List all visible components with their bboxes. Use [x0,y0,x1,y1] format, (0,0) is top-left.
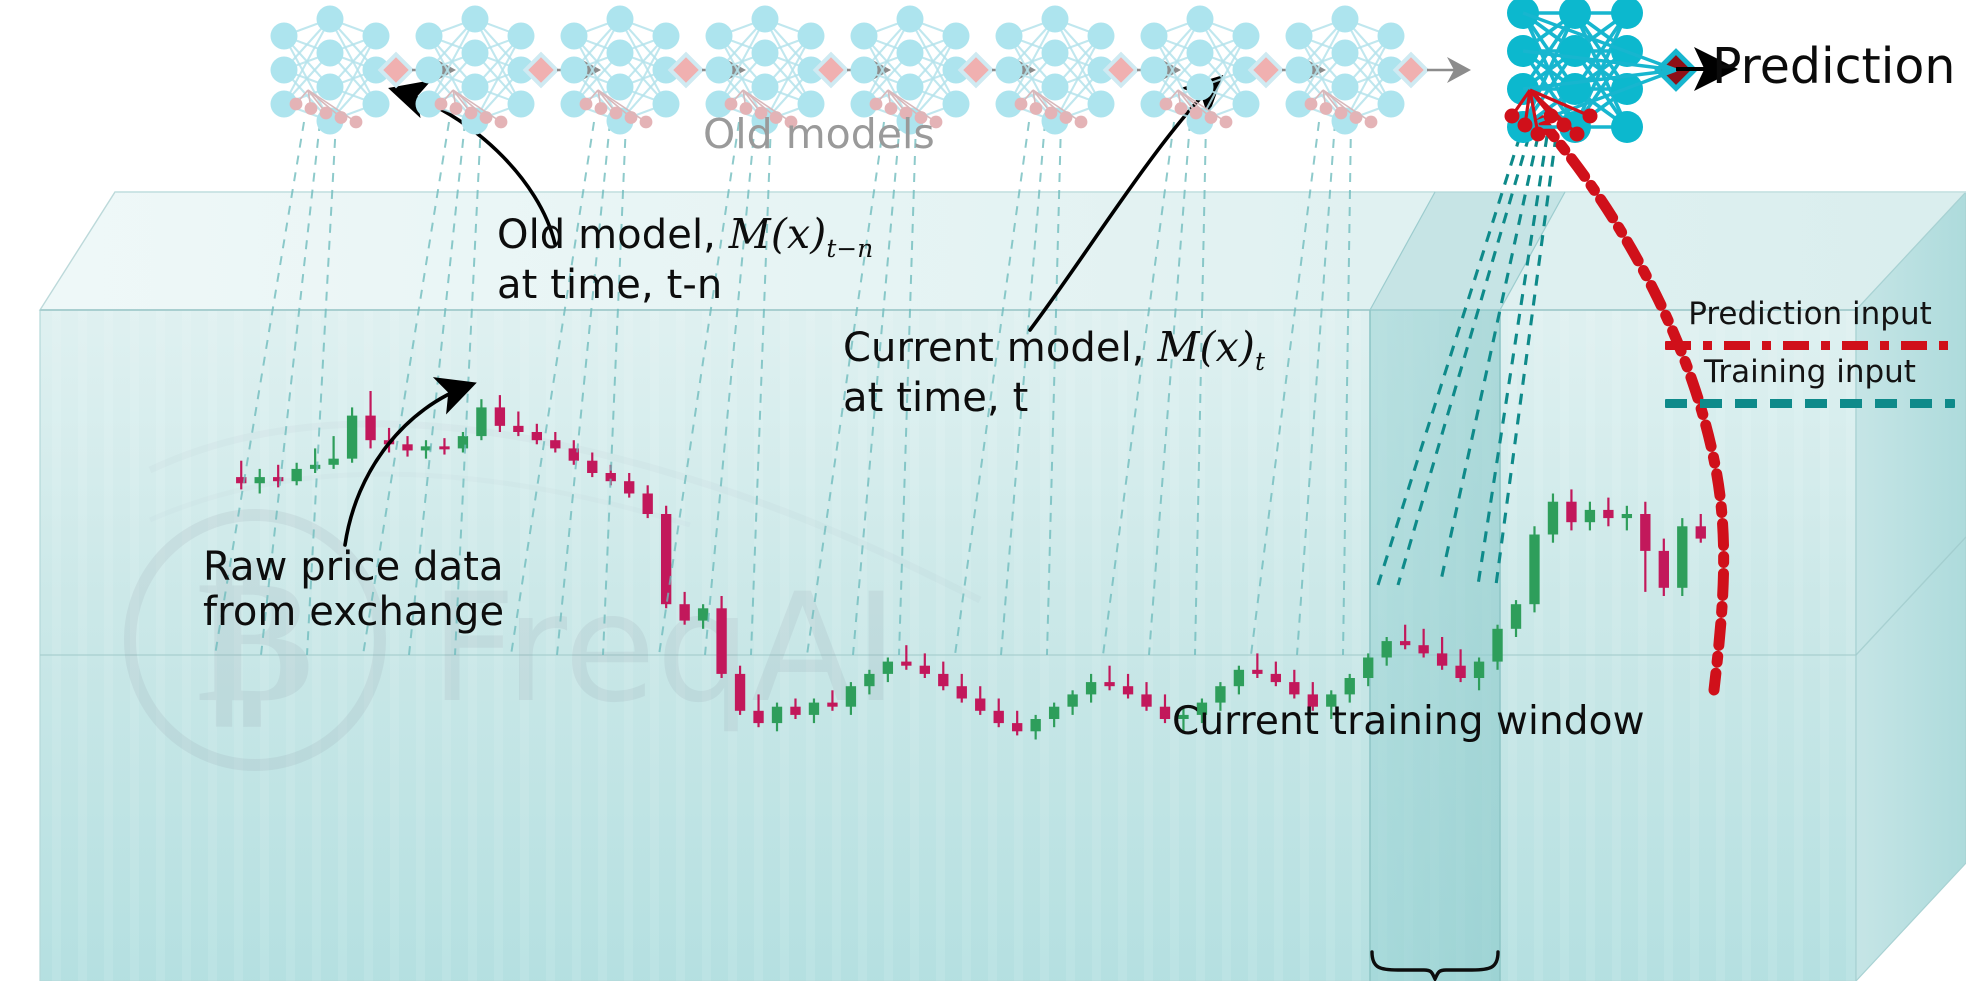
candle-body [365,416,375,441]
circle-node-icon [996,23,1023,50]
network-edge [1154,19,1200,70]
candle-body [1104,682,1114,686]
input-dot-icon [1015,98,1028,111]
training-input-line-current [1440,136,1538,585]
network-edge [1345,19,1391,104]
input-stem [453,90,456,109]
candle-body [1455,666,1465,678]
candle-body [513,426,523,432]
network-edge [1345,36,1391,87]
arrow-right-icon [1447,57,1471,83]
network-edge [1200,19,1246,104]
circle-node-icon [752,40,779,67]
arrow-to-current-model [1030,80,1218,330]
circle-node-icon [607,108,634,135]
network-edge [1009,87,1055,104]
network-edge [910,19,956,104]
network-edge [429,19,475,104]
circle-node-icon [943,57,970,84]
candle-body [1548,502,1558,535]
circle-node-icon [653,91,680,118]
input-stem [743,90,746,109]
candle-body [476,407,486,436]
training-input-line [603,122,626,655]
input-dot-icon [1365,116,1378,129]
candle-body [1289,682,1299,694]
input-stem [1323,90,1356,118]
network-edge [330,19,376,104]
circle-node-icon [1507,0,1539,29]
diagram-scene: ₿ FreqAI [0,0,1966,981]
network-edge [1154,53,1200,70]
network-edge [1009,70,1055,121]
network-edge [429,87,475,104]
candle-body [1086,682,1096,694]
network-edge [574,36,620,121]
network-edge [864,36,910,121]
network-edge [1523,13,1575,127]
math-symbol-M: M [1157,323,1199,371]
network-edge [910,36,956,53]
candle-body [1659,551,1669,588]
network-edge [475,19,521,70]
network-edge [719,53,765,104]
network-edge [1200,36,1246,53]
circle-node-icon [943,23,970,50]
network-edge [1200,36,1246,87]
network-edge [1055,19,1101,104]
network-edge [765,19,811,36]
arrow-right-icon [432,57,456,83]
network-edge [475,19,521,104]
circle-node-icon [271,57,298,84]
network-edge [1299,36,1345,87]
math-symbol-M: M [729,210,771,258]
network-edge [719,87,765,104]
candle-body [1566,502,1576,523]
circle-node-icon [943,91,970,118]
diamond-node-icon [815,54,846,85]
candle-body [1252,670,1262,674]
network-edge [1009,70,1055,87]
circle-node-icon [851,23,878,50]
circle-node-icon [1141,57,1168,84]
candle-body [957,686,967,698]
network-edge [1575,13,1627,51]
input-stem [1166,90,1178,104]
circle-node-icon [1507,35,1539,67]
circle-node-icon [561,91,588,118]
network-edge [574,53,620,104]
input-dot-icon [1220,116,1233,129]
network-edge [1523,51,1575,127]
old-model-network-6 [996,6,1115,135]
input-dot-icon [580,98,593,111]
circle-node-icon [1611,111,1643,143]
network-edge [284,19,330,36]
circle-node-icon [1378,57,1405,84]
candle-body [1123,686,1133,694]
network-edge [284,36,330,121]
old-model-network-8 [1286,6,1405,135]
circle-node-icon [561,23,588,50]
input-dot-icon [1350,111,1363,124]
network-edge [475,36,521,87]
network-edge [1009,36,1055,121]
candle-body [458,436,468,448]
network-edge [620,104,666,121]
candle-body [273,477,283,481]
input-stem [296,90,308,104]
circle-node-icon [462,74,489,101]
candle-body [809,703,819,715]
circle-node-icon [1088,57,1115,84]
candle-body [920,666,930,674]
network-edge [1523,13,1575,51]
circle-node-icon [1141,23,1168,50]
current-training-input-fan [1378,136,1556,585]
network-edge [910,53,956,70]
candle-body [698,608,708,620]
network-edge [620,70,666,121]
input-stem [1530,90,1590,116]
training-input-line-current [1478,136,1547,585]
input-dot-icon [1320,102,1333,115]
candle-body [716,608,726,674]
network-edge [1009,36,1055,53]
candle-body [569,448,579,460]
math-subscript-t-minus-n: t−n [826,234,873,263]
network-edge [1200,53,1246,70]
network-edge [475,104,521,121]
network-edge [330,19,376,70]
network-edge [574,19,620,70]
candle-body [938,674,948,686]
candle-body [1012,723,1022,731]
circle-node-icon [851,57,878,84]
circle-node-icon [1378,91,1405,118]
input-dot-icon [1305,98,1318,111]
input-stem [1178,90,1211,118]
input-stem [308,90,341,118]
input-dot-icon [450,102,463,115]
input-dot-icon [1335,107,1348,120]
network-edge [719,19,765,36]
circle-node-icon [1559,73,1591,105]
network-edge [1154,70,1200,87]
network-edge [1200,36,1246,121]
network-edge [910,19,956,70]
input-dot-icon [1518,118,1533,133]
diamond-node-icon [670,54,701,85]
circle-node-icon [1088,23,1115,50]
network-edge [1055,53,1101,70]
circle-node-icon [1088,91,1115,118]
circle-node-icon [508,23,535,50]
network-edge [765,70,811,87]
circle-node-icon [1286,23,1313,50]
network-edge [1009,19,1055,104]
candle-body [679,604,689,620]
circle-node-icon [1507,73,1539,105]
candle-body [1363,658,1373,679]
circle-node-icon [561,57,588,84]
circle-node-icon [1559,35,1591,67]
network-edge [475,53,521,104]
network-edge [284,53,330,70]
candle-body [1585,510,1595,522]
circle-node-icon [798,23,825,50]
circle-node-icon [462,40,489,67]
input-dot-icon [610,107,623,120]
network-edge [1575,89,1627,127]
network-edge [330,53,376,70]
circle-node-icon [1559,0,1591,29]
candle-body [975,699,985,711]
diamond-node-icon [1658,52,1695,89]
network-edge [1523,51,1575,89]
candle-body [827,703,837,707]
circle-node-icon [1332,108,1359,135]
input-dot-icon [725,98,738,111]
circle-node-icon [1611,73,1643,105]
network-edge [864,36,910,87]
network-edge [1009,53,1055,104]
candle-body [901,662,911,666]
circle-node-icon [1332,6,1359,33]
network-edge [574,104,620,121]
network-edge [765,36,811,121]
network-edge [1299,36,1345,121]
training-input-line-current [1378,136,1520,585]
circle-node-icon [607,40,634,67]
input-stem [1530,90,1538,134]
network-edge [574,70,620,121]
network-edge [620,19,666,36]
input-dot-icon [435,98,448,111]
network-edge [1154,36,1200,53]
network-edge [1523,70,1676,89]
input-dot-icon [1030,102,1043,115]
network-edge [574,87,620,104]
circle-node-icon [653,57,680,84]
input-stem [1033,90,1081,122]
network-edge [1299,87,1345,104]
circle-node-icon [363,23,390,50]
network-edge [910,36,956,121]
circle-node-icon [508,91,535,118]
network-edge [620,36,666,87]
circle-node-icon [1187,108,1214,135]
network-edge [1523,51,1575,89]
network-edge [1154,19,1200,36]
network-edge [864,87,910,104]
network-edge [1523,13,1575,51]
input-stem [598,90,616,113]
network-edge [1523,13,1575,127]
input-stem [1178,90,1181,109]
training-input-line [1343,122,1351,655]
input-stem [598,90,631,118]
candle-body [587,461,597,473]
input-stem [308,90,326,113]
network-edge [1200,19,1246,70]
circle-node-icon [607,74,634,101]
annotation-old-model-line2: at time, t-n [497,263,873,308]
old-model-network-7 [1141,6,1260,135]
circle-node-icon [607,6,634,33]
candle-body [994,711,1004,723]
network-edge [574,36,620,87]
network-edge [765,19,811,70]
network-edge [330,36,376,53]
input-stem [453,90,501,122]
network-edge [620,87,666,104]
circle-node-icon [363,57,390,84]
network-edge [284,36,330,87]
diamond-node-icon [1250,54,1281,85]
input-stem [1033,90,1036,109]
training-input-line [659,122,739,655]
circle-node-icon [462,108,489,135]
network-edge [1345,87,1391,104]
annotation-raw-price-line2: from exchange [203,590,504,635]
circle-node-icon [1141,91,1168,118]
network-edge [1523,13,1575,89]
network-edge [1055,53,1101,104]
network-edge [574,19,620,36]
network-edge [1055,36,1101,121]
network-edge [864,53,910,70]
circle-node-icon [508,57,535,84]
candle-body [846,686,856,707]
circle-node-icon [1042,6,1069,33]
candle-body [255,477,265,483]
network-edge [1575,13,1627,89]
network-edge [1055,87,1101,104]
circle-node-icon [416,57,443,84]
network-edge [429,70,475,121]
network-edge [1345,19,1391,36]
network-edge [864,19,910,104]
old-model-network-2 [416,6,535,135]
circle-node-icon [1332,40,1359,67]
circle-node-icon [996,57,1023,84]
training-input-line [705,122,755,655]
network-edge [475,36,521,53]
annotation-old-model-line1: Old model, M(x)t−n [497,212,873,263]
network-edge [864,53,910,104]
network-edge [475,70,521,87]
input-dot-icon [320,107,333,120]
circle-node-icon [271,23,298,50]
network-edge [1154,104,1200,121]
circle-node-icon [1042,108,1069,135]
input-dot-icon [1160,98,1173,111]
old-model-network-3 [561,6,680,135]
network-edge [1299,19,1345,70]
arrow-right-icon [722,57,746,83]
input-stem [1178,90,1226,122]
input-dot-icon [595,102,608,115]
circle-node-icon [752,74,779,101]
network-edge [1575,51,1627,127]
network-edge [1345,53,1391,104]
circle-node-icon [1233,91,1260,118]
training-input-line-current [1496,136,1556,585]
network-edge [765,19,811,104]
network-edge [1009,36,1055,87]
candle-body [606,473,616,481]
network-edge [1055,36,1101,53]
circle-node-icon [317,40,344,67]
network-edge [475,70,521,121]
network-edge [910,19,956,36]
network-edge [574,19,620,104]
input-stem [1311,90,1323,104]
network-edge [330,36,376,121]
circle-node-icon [1286,57,1313,84]
network-edge [1299,53,1345,70]
network-edge [864,36,910,53]
arrow-right-icon [577,57,601,83]
network-edge [574,70,620,87]
network-edge [1299,19,1345,36]
network-edge [1299,36,1345,53]
candle-body [1067,694,1077,706]
circle-node-icon [1559,111,1591,143]
input-stem [1178,90,1196,113]
diamond-node-icon [525,54,556,85]
network-edge [719,36,765,53]
annotation-training-window: Current training window [1172,700,1645,744]
network-edge [475,36,521,121]
input-dot-icon [305,102,318,115]
candle-body [661,514,671,604]
input-stem [1530,90,1577,134]
input-dot-icon [495,116,508,129]
prediction-label: Prediction [1712,38,1955,95]
network-edge [429,36,475,121]
network-edge [330,36,376,87]
neural-network-row [271,0,1695,143]
network-edge [1200,70,1246,87]
circle-node-icon [798,57,825,84]
network-edge [429,36,475,53]
circle-node-icon [1233,57,1260,84]
circle-node-icon [1611,35,1643,67]
legend-label-training-input: Training input [1665,354,1955,390]
network-edge [910,53,956,104]
training-input-line [1297,122,1335,655]
network-edge [284,70,330,121]
input-stem [308,90,311,109]
network-edge [284,70,330,87]
network-edge [1575,13,1627,89]
input-stem [1323,90,1341,113]
network-edge [864,19,910,70]
circle-node-icon [996,91,1023,118]
network-edge [1200,53,1246,104]
input-stem [1323,90,1326,109]
network-edge [284,87,330,104]
network-edge [1575,13,1627,127]
network-edge [475,53,521,70]
network-edge [620,19,666,104]
input-dot-icon [1557,118,1572,133]
network-edge [1200,70,1246,121]
diamond-node-icon [960,54,991,85]
